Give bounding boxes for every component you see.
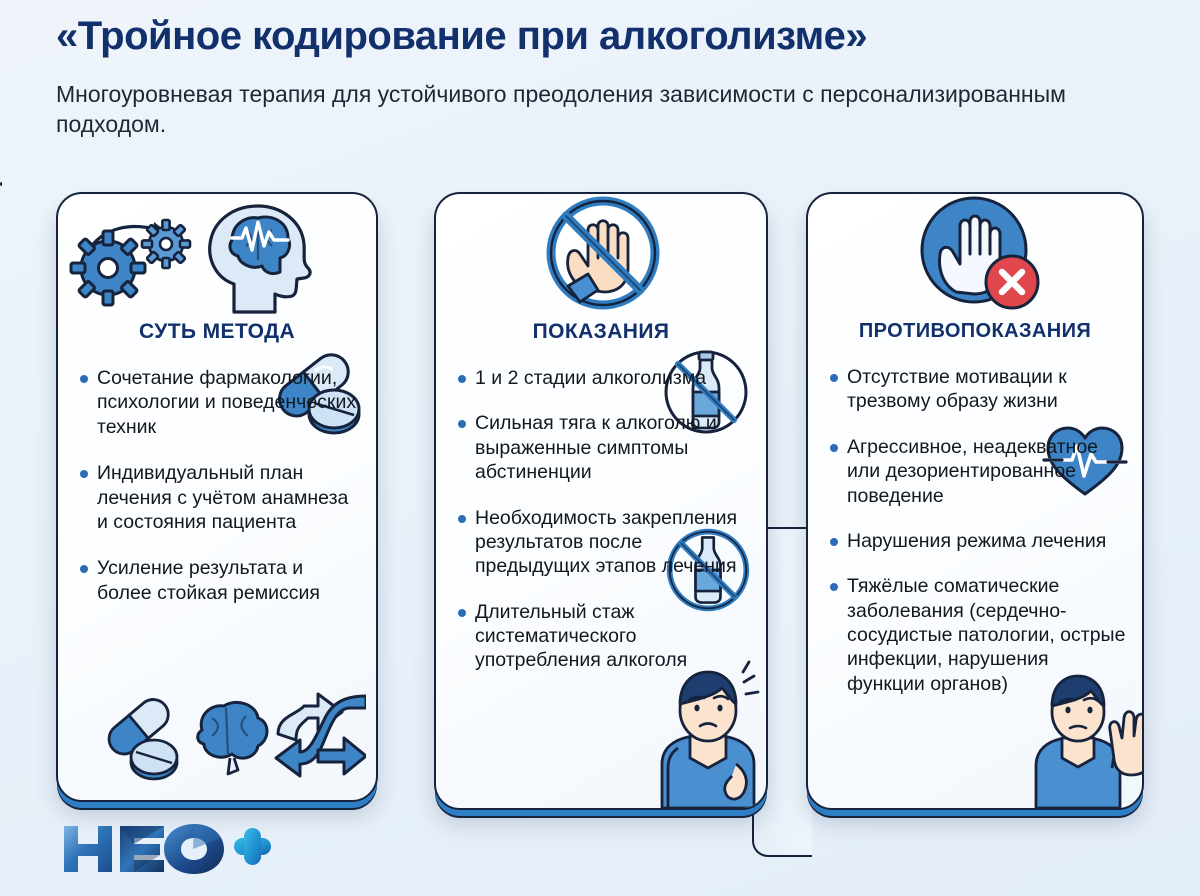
page-subtitle: Многоуровневая терапия для устойчивого п… — [56, 79, 1141, 140]
logo-mark — [58, 818, 273, 880]
card-sut-metoda[interactable]: СУТЬ МЕТОДА Сочетание фармакологии, псих… — [56, 192, 378, 802]
list-item: Нарушения режима лечения — [828, 529, 1128, 553]
card-3-header — [808, 194, 1142, 322]
card-connector-1-2 — [0, 182, 2, 186]
card-deck: СУТЬ МЕТОДА Сочетание фармакологии, псих… — [0, 182, 1200, 822]
gears-head-brain-icon — [66, 200, 366, 318]
list-item: Длительный стаж систематического употреб… — [456, 600, 752, 673]
stop-hand-red-x-icon — [916, 192, 1044, 316]
list-item: 1 и 2 стадии алкоголизма — [456, 366, 752, 390]
page-header: «Тройное кодирование при алкоголизме» Мн… — [56, 14, 1156, 140]
neo-plus-logo[interactable]: НЕО — [58, 818, 273, 880]
card-3-bullets: Отсутствие мотивации к трезвому образу ж… — [808, 365, 1142, 696]
card-protivopokazaniya[interactable]: ПРОТИВОПОКАЗАНИЯ Отсутствие мотивации к … — [806, 192, 1144, 810]
page-title: «Тройное кодирование при алкоголизме» — [56, 14, 1156, 59]
list-item: Сильная тяга к алкоголю и выраженные сим… — [456, 411, 752, 484]
card-1-bullets: Сочетание фармакологии, психологии и пов… — [58, 366, 376, 605]
list-item: Усиление результата и более стойкая реми… — [78, 556, 362, 605]
card-pokazaniya[interactable]: ПОКАЗАНИЯ 1 и 2 стадии алкоголизма Сильн… — [434, 192, 768, 810]
card-1-title: СУТЬ МЕТОДА — [58, 320, 376, 344]
list-item: Индивидуальный план лечения с учётом ана… — [78, 461, 362, 534]
stop-hand-prohibition-icon — [542, 192, 664, 314]
card-2-header — [436, 194, 766, 322]
card-1-header — [58, 194, 376, 322]
card-3-title: ПРОТИВОПОКАЗАНИЯ — [808, 320, 1142, 343]
worried-man-icon — [644, 658, 768, 808]
list-item: Тяжёлые соматические заболевания (сердеч… — [828, 574, 1128, 696]
list-item: Необходимость закрепления результатов по… — [456, 506, 752, 579]
card-2-title: ПОКАЗАНИЯ — [436, 320, 766, 344]
capsule-brain-shuffle-icon — [96, 678, 366, 790]
card-2-bullets: 1 и 2 стадии алкоголизма Сильная тяга к … — [436, 366, 766, 673]
list-item: Агрессивное, неадекватное или дезориенти… — [828, 435, 1128, 508]
list-item: Сочетание фармакологии, психологии и пов… — [78, 366, 362, 439]
list-item: Отсутствие мотивации к трезвому образу ж… — [828, 365, 1128, 414]
